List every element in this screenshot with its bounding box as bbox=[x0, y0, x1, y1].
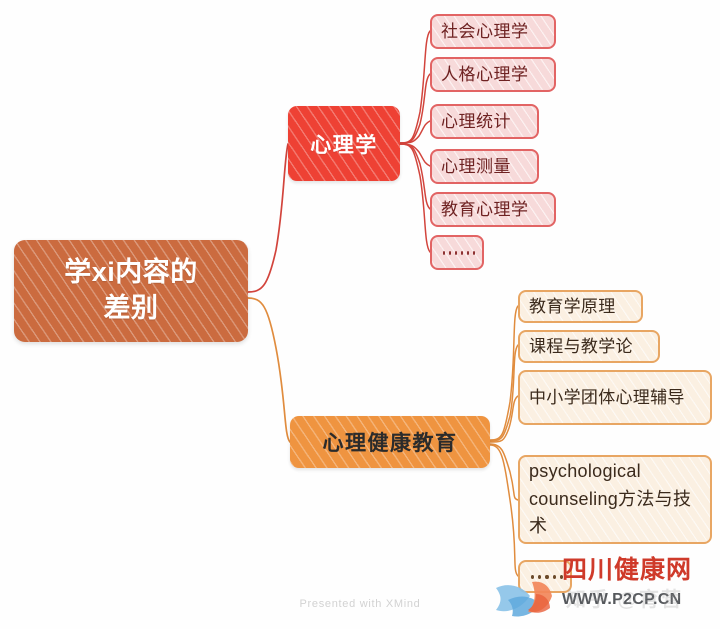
leaf-node-school-group-counseling[interactable]: 中小学团体心理辅导 bbox=[518, 370, 712, 425]
leaf-label: 社会心理学 bbox=[441, 21, 545, 43]
leaf-node-personality-psychology[interactable]: 人格心理学 bbox=[430, 57, 556, 92]
watermark-ghost-text: 知乎 @育营 bbox=[566, 583, 683, 612]
leaf-label: 心理测量 bbox=[441, 156, 528, 178]
leaf-node-educational-psychology[interactable]: 教育心理学 bbox=[430, 192, 556, 227]
topic-node-psychology[interactable]: 心理学 bbox=[288, 106, 400, 181]
leaf-node-psych-statistics[interactable]: 心理统计 bbox=[430, 104, 539, 139]
leaf-label: psychological counseling方法与技术 bbox=[529, 458, 701, 542]
leaf-node-psychology-more[interactable] bbox=[430, 235, 484, 270]
topic-mental-health-label: 心理健康教育 bbox=[290, 427, 490, 457]
bird-flame-logo-icon bbox=[492, 562, 558, 620]
topic-psychology-label: 心理学 bbox=[288, 129, 400, 159]
watermark: 四川健康网 WWW.P2CP.CN 知乎 @育营 bbox=[492, 556, 720, 622]
leaf-node-social-psychology[interactable]: 社会心理学 bbox=[430, 14, 556, 49]
root-label-line2: 差别 bbox=[104, 293, 159, 323]
leaf-label: 人格心理学 bbox=[441, 64, 545, 86]
leaf-label: 心理统计 bbox=[441, 111, 528, 133]
leaf-label: 中小学团体心理辅导 bbox=[529, 387, 701, 409]
leaf-node-psychological-counseling-methods[interactable]: psychological counseling方法与技术 bbox=[518, 455, 712, 544]
leaf-label: 课程与教学论 bbox=[529, 336, 649, 358]
watermark-site-name: 四川健康网 bbox=[562, 558, 718, 583]
leaf-label: 教育学原理 bbox=[529, 296, 632, 318]
root-node-label: 学xi内容的 差别 bbox=[14, 255, 248, 326]
mindmap-canvas: 学xi内容的 差别 心理学 社会心理学 人格心理学 心理统计 心理测量 教育心理… bbox=[0, 0, 720, 629]
leaf-node-pedagogy-principles[interactable]: 教育学原理 bbox=[518, 290, 643, 323]
root-label-line1: 学xi内容的 bbox=[64, 257, 198, 287]
leaf-node-psych-measurement[interactable]: 心理测量 bbox=[430, 149, 539, 184]
leaf-label: 教育心理学 bbox=[441, 199, 545, 221]
root-node[interactable]: 学xi内容的 差别 bbox=[14, 240, 248, 342]
ellipsis-dots-icon bbox=[441, 251, 475, 255]
leaf-node-curriculum-instruction[interactable]: 课程与教学论 bbox=[518, 330, 660, 363]
topic-node-mental-health-education[interactable]: 心理健康教育 bbox=[290, 416, 490, 468]
